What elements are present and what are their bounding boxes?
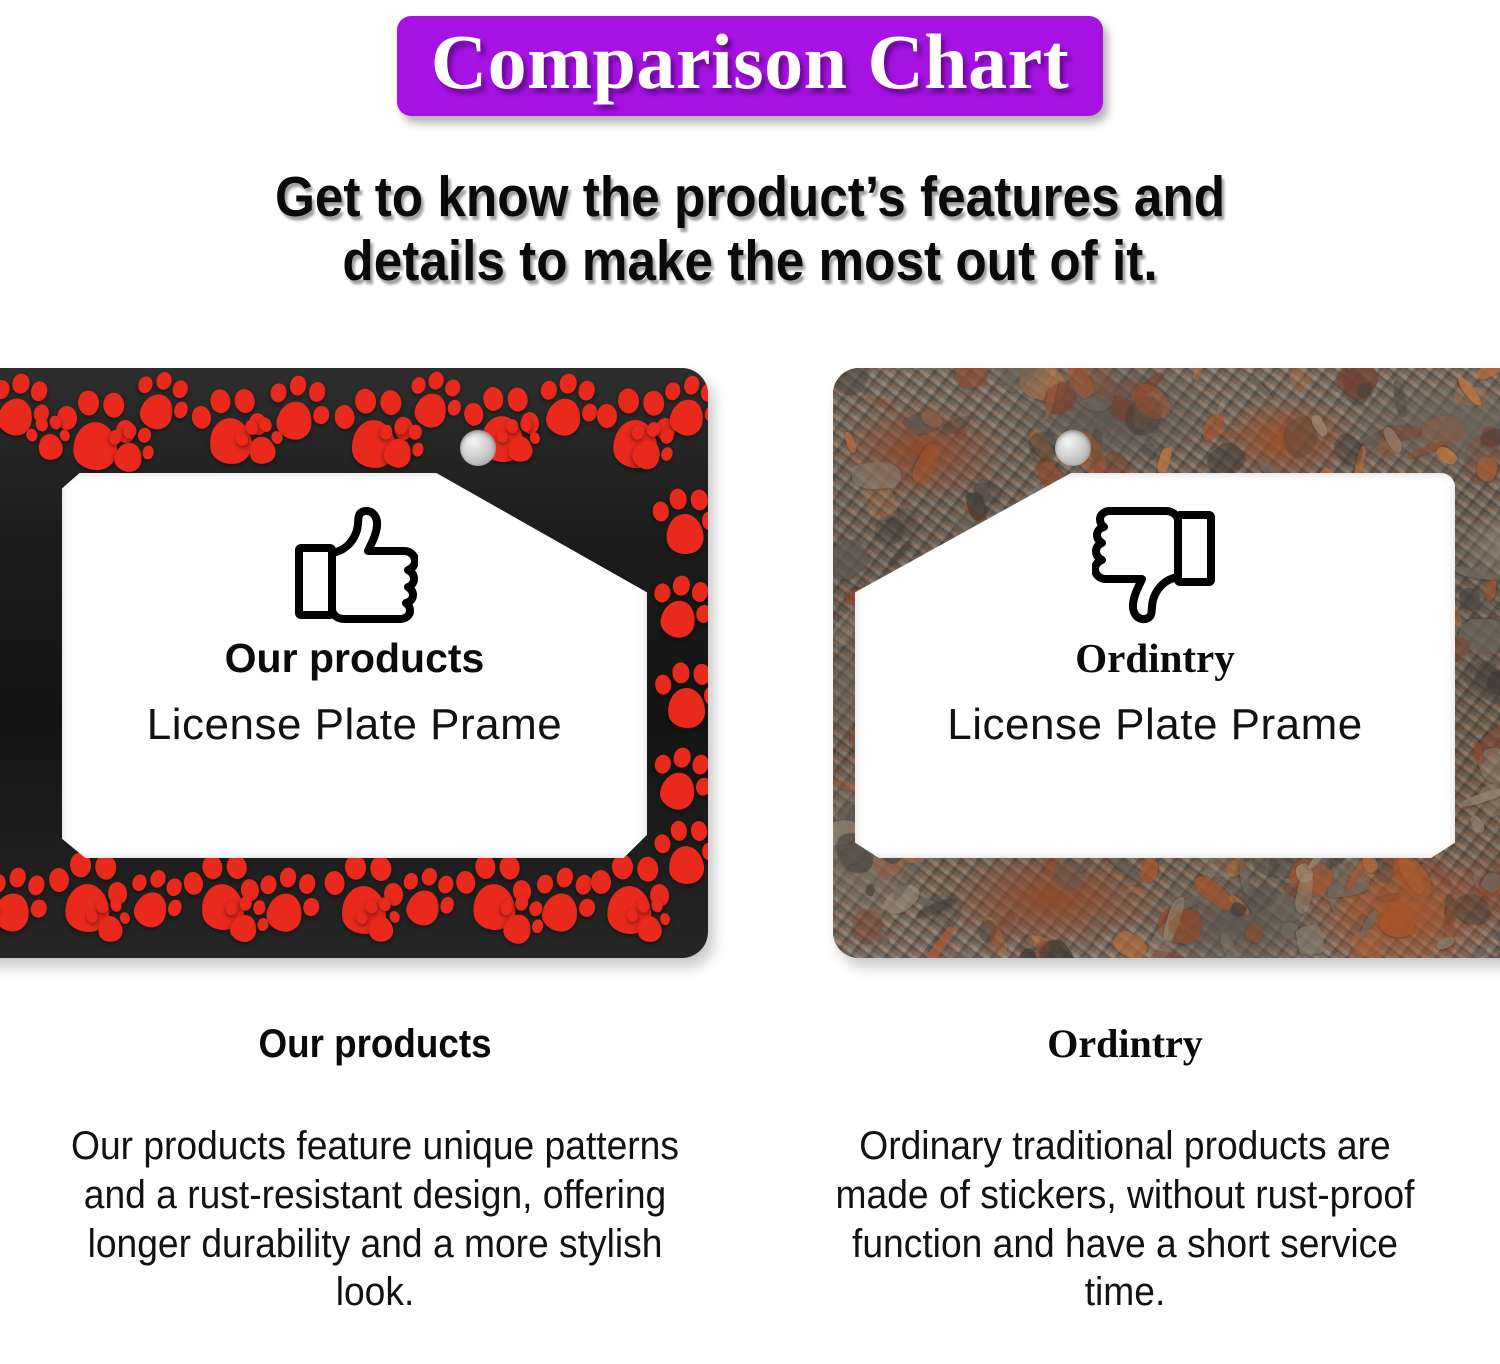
ordinary-product-frame: Ordintry License Plate Prame	[833, 368, 1500, 958]
paw-print-icon	[220, 893, 272, 947]
ordinary-product-label: License Plate Prame	[855, 702, 1455, 748]
rust-flake	[833, 533, 873, 586]
rust-flake	[1140, 442, 1158, 462]
our-brand-label: Our products	[62, 637, 647, 680]
our-column-body: Our products feature unique patterns and…	[26, 1122, 724, 1317]
rust-flake	[1191, 368, 1205, 381]
rust-flake	[1110, 927, 1151, 958]
title-banner-wrap: Comparison Chart	[0, 16, 1500, 116]
paw-print-icon	[105, 421, 157, 476]
ordinary-column-body: Ordinary traditional products are made o…	[776, 1122, 1474, 1317]
page-title: Comparison Chart	[431, 20, 1070, 104]
our-column-heading: Our products	[30, 1022, 720, 1066]
rust-flake	[1468, 814, 1487, 836]
our-products-column: Our products Our products feature unique…	[0, 1022, 750, 1364]
comparison-columns: Our products Our products feature unique…	[0, 1022, 1500, 1364]
rust-flake	[1492, 927, 1500, 948]
paw-print-icon	[532, 369, 603, 444]
comparison-chart-page: Comparison Chart Get to know the product…	[0, 0, 1500, 1364]
rust-flake	[1199, 411, 1229, 446]
rust-flake	[865, 396, 897, 409]
paw-print-icon	[0, 862, 54, 940]
rust-flake	[1392, 380, 1407, 418]
product-frames-row: Our products License Plate Prame	[0, 368, 1500, 968]
subtitle: Get to know the product’s features and d…	[75, 166, 1425, 294]
rust-flake	[1295, 924, 1325, 957]
rust-flake	[1489, 952, 1500, 958]
ordinary-brand-label: Ordintry	[855, 637, 1455, 680]
paw-print-icon	[647, 571, 708, 644]
rust-flake	[843, 431, 858, 455]
rust-flake	[1127, 885, 1142, 893]
paw-print-icon	[651, 485, 708, 558]
our-product-label: License Plate Prame	[62, 702, 647, 748]
subtitle-line-2: details to make the most out of it.	[75, 230, 1425, 294]
ordinary-column-heading: Ordintry	[750, 1022, 1500, 1066]
rust-flake	[1464, 436, 1500, 486]
rust-flake	[953, 368, 989, 391]
rust-flake	[1287, 368, 1313, 391]
paw-print-icon	[373, 416, 428, 474]
rust-flake	[1155, 446, 1172, 474]
rust-flake	[1453, 565, 1497, 581]
rust-flake	[1077, 914, 1106, 958]
rust-flake	[1459, 944, 1488, 958]
paw-print-icon	[646, 743, 708, 818]
ordinary-products-column: Ordintry Ordinary traditional products a…	[750, 1022, 1500, 1364]
title-banner: Comparison Chart	[397, 16, 1104, 116]
rust-flake	[1218, 430, 1248, 439]
mounting-hole-icon	[460, 430, 496, 466]
rust-flake	[1281, 921, 1298, 939]
rust-flake	[1356, 383, 1373, 398]
rust-flake	[927, 889, 967, 931]
our-product-frame: Our products License Plate Prame	[0, 368, 708, 958]
rust-flake	[865, 884, 874, 897]
rust-flake	[1247, 373, 1274, 402]
subtitle-line-1: Get to know the product’s features and	[75, 166, 1425, 230]
rust-flake	[851, 461, 901, 491]
rust-flake	[833, 368, 873, 400]
paw-print-icon	[654, 660, 708, 731]
rust-flake	[1218, 930, 1245, 958]
rust-flake	[1171, 867, 1182, 900]
paw-print-icon	[624, 895, 673, 947]
rust-flake	[1475, 368, 1500, 382]
thumbs-down-icon	[1092, 503, 1218, 627]
rust-flake	[1377, 892, 1401, 905]
rust-flake	[1243, 921, 1266, 945]
rust-flake	[1378, 910, 1416, 938]
mounting-hole-icon	[1055, 430, 1091, 466]
thumbs-up-icon	[292, 503, 418, 627]
rust-flake	[1139, 857, 1159, 883]
rust-flake	[937, 951, 974, 958]
rust-flake	[1197, 956, 1227, 958]
